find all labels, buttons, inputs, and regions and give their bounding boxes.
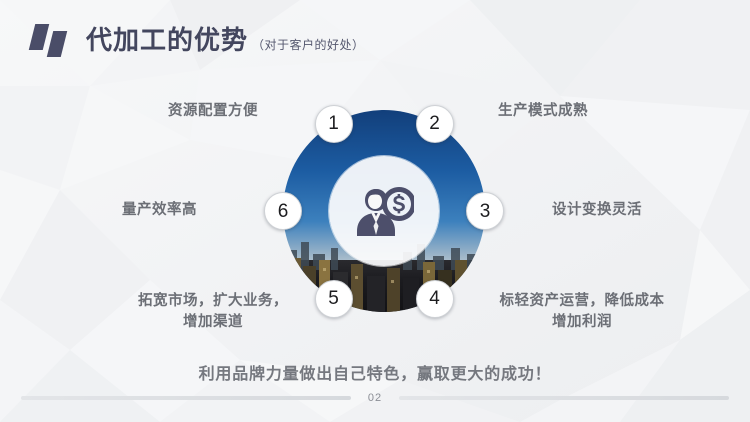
businessman-with-dollar-coin-icon: [354, 183, 414, 239]
hub-center-badge: [329, 156, 439, 266]
slide-canvas: 代加工的优势 （对于客户的好处）: [0, 0, 750, 422]
benefit-label-6: 量产效率高: [122, 200, 197, 221]
central-hub-graphic: 1 2 3 4 5 6: [283, 110, 485, 312]
benefit-label-3: 设计变换灵活: [552, 200, 642, 221]
slide-header: 代加工的优势 （对于客户的好处）: [0, 0, 750, 80]
slide-tagline: 利用品牌力量做出自己特色，赢取更大的成功！: [0, 360, 750, 384]
hub-node-label: 5: [328, 289, 339, 308]
hub-node-label: 1: [328, 114, 339, 133]
hub-node-label: 2: [429, 114, 440, 133]
page-number: 02: [365, 392, 385, 404]
page-subtitle: （对于客户的好处）: [252, 36, 365, 53]
hub-node-6[interactable]: 6: [264, 192, 302, 230]
hub-node-label: 4: [429, 289, 440, 308]
benefit-label-2: 生产模式成熟: [498, 101, 588, 122]
hub-node-5[interactable]: 5: [315, 280, 353, 318]
footer-rule-right: [399, 396, 729, 400]
benefit-label-4: 标轻资产运营，降低成本 增加利润: [484, 291, 680, 333]
hub-node-1[interactable]: 1: [315, 105, 353, 143]
hub-node-2[interactable]: 2: [416, 105, 454, 143]
hub-node-label: 3: [480, 202, 491, 221]
page-title: 代加工的优势: [86, 27, 248, 53]
hub-node-4[interactable]: 4: [416, 280, 454, 318]
double-slash-mark-icon: [30, 21, 72, 59]
footer-rule-left: [21, 396, 351, 400]
benefit-label-4-line1: 标轻资产运营，降低成本: [484, 291, 680, 312]
hub-node-label: 6: [278, 202, 289, 221]
benefit-label-5-line2: 增加渠道: [118, 312, 308, 333]
benefit-label-4-line2: 增加利润: [484, 312, 680, 333]
benefit-label-1: 资源配置方便: [168, 101, 258, 122]
title-group: 代加工的优势 （对于客户的好处）: [86, 27, 365, 53]
benefit-label-5-line1: 拓宽市场，扩大业务，: [118, 291, 308, 312]
hub-node-3[interactable]: 3: [466, 192, 504, 230]
benefit-label-5: 拓宽市场，扩大业务， 增加渠道: [118, 291, 308, 333]
slide-footer: 02: [0, 389, 750, 407]
